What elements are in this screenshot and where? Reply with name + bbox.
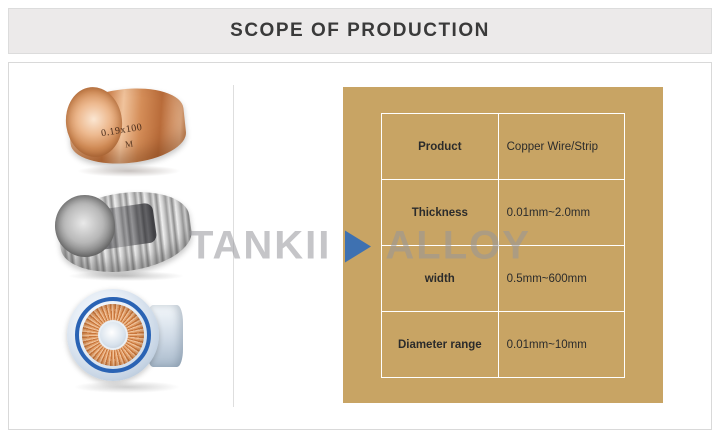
scope-of-production-banner: SCOPE OF PRODUCTION: [8, 8, 712, 54]
page-root: SCOPE OF PRODUCTION 0.19x100 M: [0, 0, 720, 446]
specification-panel: Product Copper Wire/Strip Thickness 0.01…: [343, 87, 663, 403]
spec-value: 0.5mm~600mm: [498, 246, 624, 312]
page-title: SCOPE OF PRODUCTION: [230, 20, 490, 42]
table-row: Diameter range 0.01mm~10mm: [382, 312, 625, 378]
copper-strip-coil-photo: 0.19x100 M: [63, 81, 191, 181]
product-photo-column: 0.19x100 M: [9, 63, 233, 429]
spec-key: Thickness: [382, 180, 499, 246]
content-panel: 0.19x100 M: [8, 62, 712, 430]
spec-value: 0.01mm~2.0mm: [498, 180, 624, 246]
metal-strip-coil-photo: [51, 187, 199, 279]
spec-key: Product: [382, 114, 499, 180]
table-row: Product Copper Wire/Strip: [382, 114, 625, 180]
copper-wire-spool-photo: [65, 285, 191, 403]
spec-value: Copper Wire/Strip: [498, 114, 624, 180]
table-row: width 0.5mm~600mm: [382, 246, 625, 312]
coil-shadow: [77, 165, 181, 177]
spool-hub: [98, 320, 128, 350]
specification-table: Product Copper Wire/Strip Thickness 0.01…: [381, 113, 625, 378]
coil-shadow: [69, 271, 183, 281]
spec-key: Diameter range: [382, 312, 499, 378]
spec-value: 0.01mm~10mm: [498, 312, 624, 378]
spool-shadow: [75, 381, 179, 393]
column-divider: [233, 85, 234, 407]
spec-key: width: [382, 246, 499, 312]
coil-handwritten-label-2: M: [124, 138, 133, 149]
table-row: Thickness 0.01mm~2.0mm: [382, 180, 625, 246]
